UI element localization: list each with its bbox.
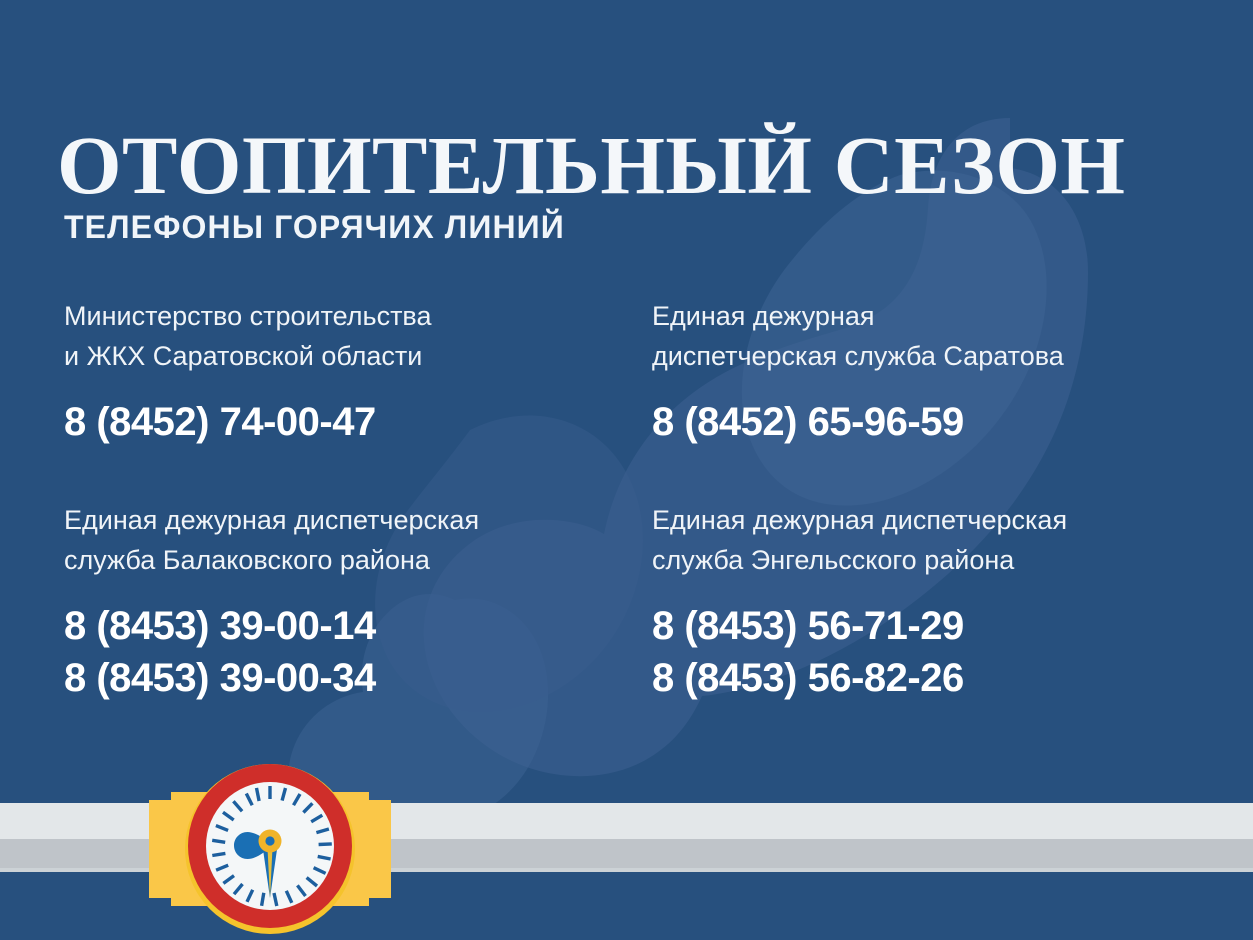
organization-name: Министерство строительства и ЖКХ Саратов…: [64, 296, 624, 376]
phone-number[interactable]: 8 (8452) 65-96-59: [652, 396, 1227, 448]
contacts-grid: Министерство строительства и ЖКХ Саратов…: [0, 296, 1253, 716]
contact-block: Министерство строительства и ЖКХ Саратов…: [64, 296, 624, 448]
phone-list: 8 (8452) 74-00-47: [64, 396, 624, 448]
page-title: ОТОПИТЕЛЬНЫЙ СЕЗОН: [57, 118, 1217, 212]
organization-name: Единая дежурная диспетчерская служба Сар…: [652, 296, 1227, 376]
contact-block: Единая дежурная диспетчерская служба Бал…: [64, 500, 624, 704]
phone-number[interactable]: 8 (8453) 56-82-26: [652, 652, 1227, 704]
organization-name: Единая дежурная диспетчерская служба Бал…: [64, 500, 624, 580]
phone-list: 8 (8452) 65-96-59: [652, 396, 1227, 448]
phone-number[interactable]: 8 (8452) 74-00-47: [64, 396, 624, 448]
meter-hub-inner: [265, 836, 274, 845]
organization-name: Единая дежурная диспетчерская служба Энг…: [652, 500, 1227, 580]
phone-list: 8 (8453) 39-00-14 8 (8453) 39-00-34: [64, 600, 624, 704]
phone-number[interactable]: 8 (8453) 56-71-29: [652, 600, 1227, 652]
phone-list: 8 (8453) 56-71-29 8 (8453) 56-82-26: [652, 600, 1227, 704]
page-subtitle: ТЕЛЕФОНЫ ГОРЯЧИХ ЛИНИЙ: [64, 208, 565, 246]
contact-block: Единая дежурная диспетчерская служба Сар…: [652, 296, 1227, 448]
poster-root: ОТОПИТЕЛЬНЫЙ СЕЗОН ТЕЛЕФОНЫ ГОРЯЧИХ ЛИНИ…: [0, 0, 1253, 940]
water-meter-gauge-icon: [139, 758, 401, 940]
phone-number[interactable]: 8 (8453) 39-00-14: [64, 600, 624, 652]
contact-block: Единая дежурная диспетчерская служба Энг…: [652, 500, 1227, 704]
phone-number[interactable]: 8 (8453) 39-00-34: [64, 652, 624, 704]
